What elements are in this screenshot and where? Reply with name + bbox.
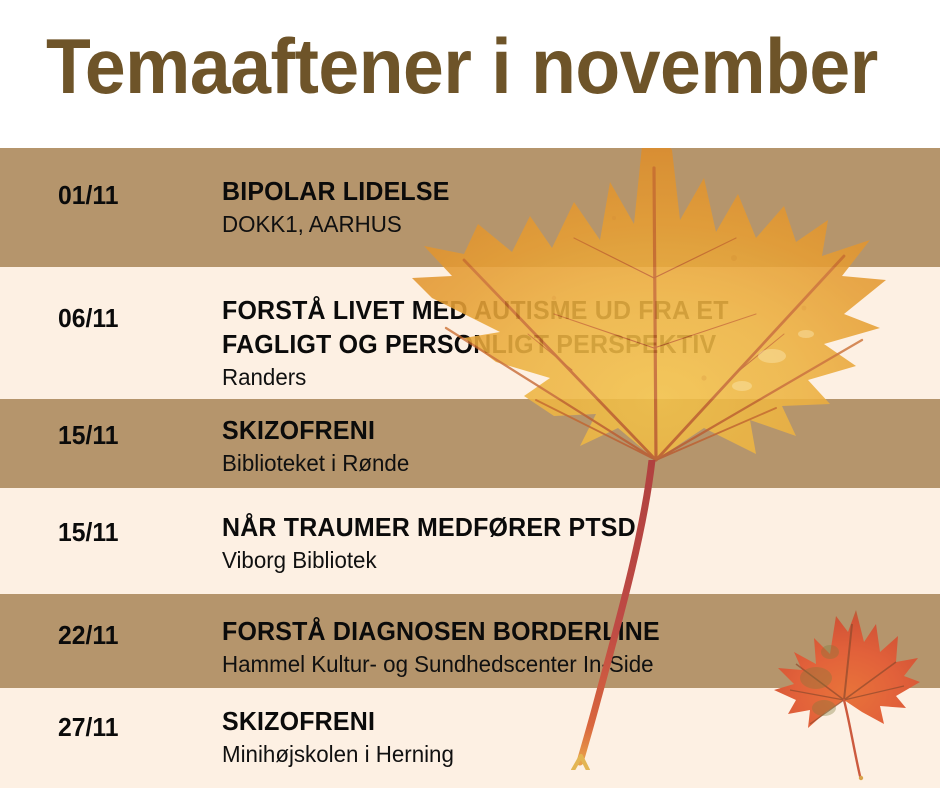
event-title: NÅR TRAUMER MEDFØRER PTSD [222,510,902,544]
event-venue: DOKK1, AARHUS [222,209,909,239]
event-row-inner: 01/11 BIPOLAR LIDELSE DOKK1, AARHUS [0,148,940,267]
event-title: FORSTÅ LIVET MED AUTISME UD FRA ET [222,293,902,327]
event-row-inner: 06/11 FORSTÅ LIVET MED AUTISME UD FRA ET… [0,267,940,399]
event-text-block: SKIZOFRENI Biblioteket i Rønde [222,413,930,478]
event-venue: Randers [222,362,909,392]
event-text-block: FORSTÅ LIVET MED AUTISME UD FRA ET FAGLI… [222,293,930,392]
event-venue: Biblioteket i Rønde [222,448,909,478]
event-row: 15/11 SKIZOFRENI Biblioteket i Rønde [0,399,940,488]
event-row-inner: 15/11 NÅR TRAUMER MEDFØRER PTSD Viborg B… [0,488,940,594]
event-date: 15/11 [58,517,201,548]
event-title: SKIZOFRENI [222,413,902,447]
event-row-inner: 22/11 FORSTÅ DIAGNOSEN BORDERLINE Hammel… [0,594,940,688]
event-text-block: BIPOLAR LIDELSE DOKK1, AARHUS [222,174,930,239]
event-row: 01/11 BIPOLAR LIDELSE DOKK1, AARHUS [0,148,940,267]
event-text-block: SKIZOFRENI Minihøjskolen i Herning [222,704,930,769]
event-row: 22/11 FORSTÅ DIAGNOSEN BORDERLINE Hammel… [0,594,940,688]
poster-canvas: Temaaftener i november 01/11 BIPOLAR LID… [0,0,940,788]
event-date: 15/11 [58,420,201,451]
title-bar: Temaaftener i november [0,0,940,148]
event-text-block: FORSTÅ DIAGNOSEN BORDERLINE Hammel Kultu… [222,614,930,679]
event-row-inner: 15/11 SKIZOFRENI Biblioteket i Rønde [0,399,940,488]
event-row-inner: 27/11 SKIZOFRENI Minihøjskolen i Herning [0,688,940,788]
event-venue: Viborg Bibliotek [222,545,909,575]
event-title: SKIZOFRENI [222,704,902,738]
event-date: 01/11 [58,180,201,211]
event-row: 06/11 FORSTÅ LIVET MED AUTISME UD FRA ET… [0,267,940,399]
event-row: 27/11 SKIZOFRENI Minihøjskolen i Herning [0,688,940,788]
event-venue: Hammel Kultur- og Sundhedscenter In-Side [222,649,909,679]
page-title: Temaaftener i november [46,22,854,110]
event-title-line2: FAGLIGT OG PERSONLIGT PERSPEKTIV [222,327,902,361]
event-date: 27/11 [58,712,201,743]
event-date: 22/11 [58,620,201,651]
event-venue: Minihøjskolen i Herning [222,739,909,769]
event-title: FORSTÅ DIAGNOSEN BORDERLINE [222,614,902,648]
event-text-block: NÅR TRAUMER MEDFØRER PTSD Viborg Bibliot… [222,510,930,575]
event-title: BIPOLAR LIDELSE [222,174,902,208]
event-date: 06/11 [58,303,201,334]
event-row: 15/11 NÅR TRAUMER MEDFØRER PTSD Viborg B… [0,488,940,594]
